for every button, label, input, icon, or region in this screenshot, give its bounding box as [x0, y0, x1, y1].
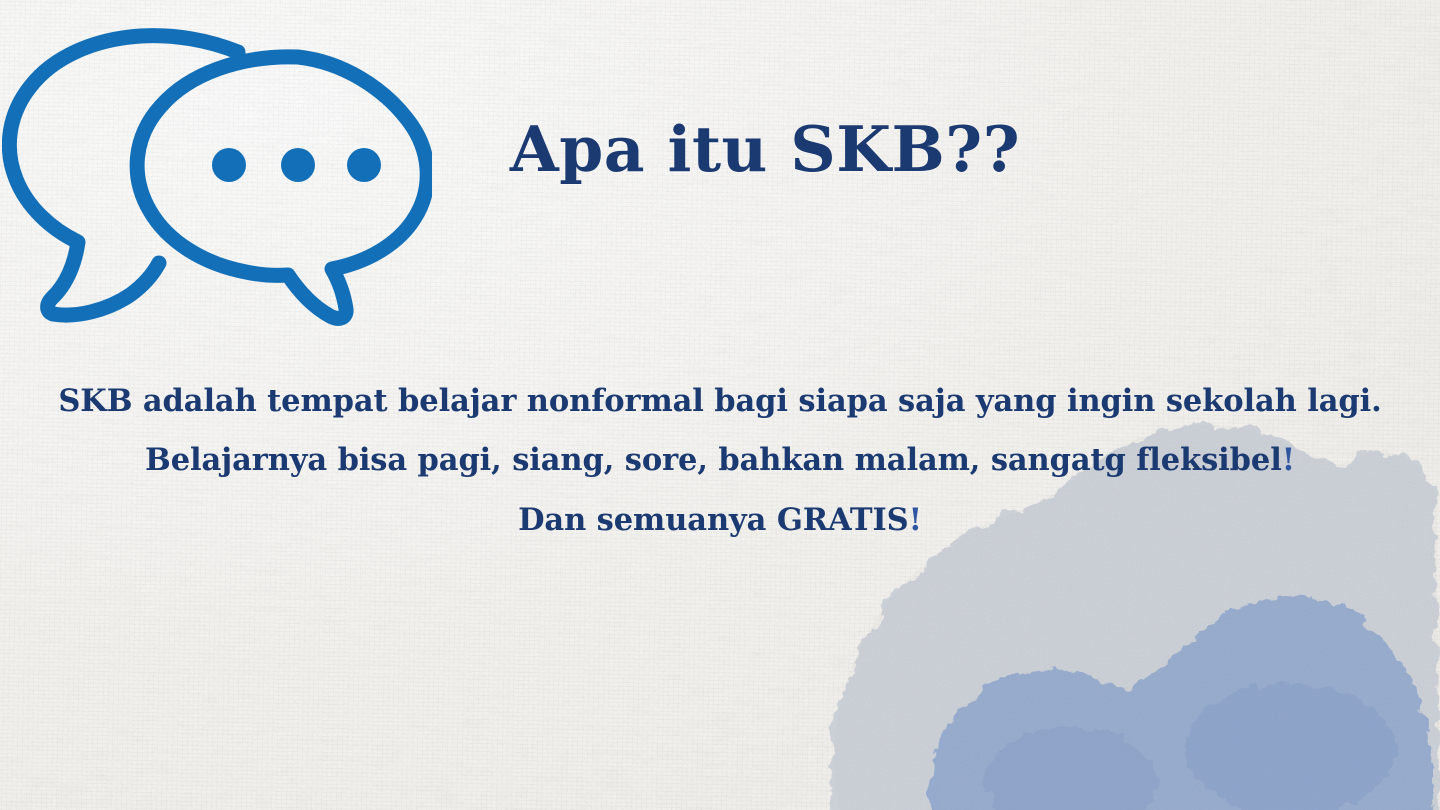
body-line-2: Belajarnya bisa pagi, siang, sore, bahka…	[0, 431, 1440, 490]
slide-canvas: Apa itu SKB?? SKB adalah tempat belajar …	[0, 0, 1440, 810]
body-line-3-exclamation: !	[909, 502, 922, 538]
body-line-3: Dan semuanya GRATIS!	[0, 491, 1440, 550]
page-title: Apa itu SKB??	[0, 116, 1440, 182]
body-line-3-text: Dan semuanya GRATIS	[518, 502, 909, 538]
body-line-1: SKB adalah tempat belajar nonformal bagi…	[0, 372, 1440, 431]
body-line-2-text: Belajarnya bisa pagi, siang, sore, bahka…	[145, 442, 1282, 478]
body-copy: SKB adalah tempat belajar nonformal bagi…	[0, 372, 1440, 550]
chat-bubble-front-shape	[137, 57, 427, 319]
body-line-2-exclamation: !	[1282, 442, 1295, 478]
